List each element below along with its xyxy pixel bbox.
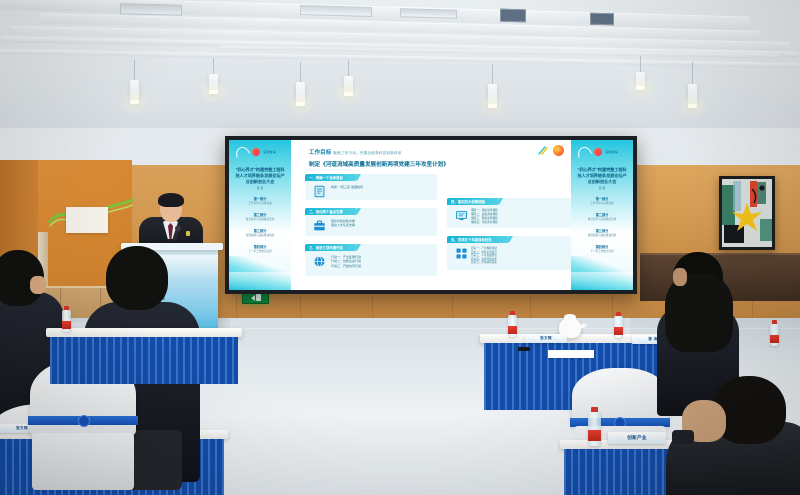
- ceiling-light: [209, 74, 218, 94]
- ceiling-light: [636, 72, 645, 90]
- monitor-icon: [455, 209, 468, 222]
- slide-right-title: “四心养才”构建完整工程科技人才培养链条发展论坛产业创新创业大会: [576, 167, 628, 185]
- attendee-right-2: [666, 376, 800, 495]
- attendee-hair: [665, 274, 733, 352]
- ceiling-vent: [400, 8, 457, 18]
- circle-logo-icon: [553, 145, 564, 156]
- brand-mark-icon: [252, 148, 260, 156]
- brand-mark-icon: [594, 148, 602, 156]
- slide-right-subtitle: 目 录: [579, 186, 625, 190]
- slide-logo-text: 深圳前海: [605, 150, 618, 154]
- bottle-label: [614, 327, 623, 334]
- paper-document: [548, 350, 594, 358]
- bottle-label: [62, 321, 71, 328]
- wall-plaque: [66, 207, 108, 233]
- water-bottle: [770, 324, 779, 346]
- slide-block-text: 行动一：产业集群行动 行动二：创新生态行动 行动三：开放协同行动: [331, 255, 433, 268]
- ceiling-panel: [590, 13, 614, 26]
- attendee-face: [673, 268, 687, 286]
- toc-item: 第一部分 工作背景与总体思路: [576, 196, 628, 206]
- slide-corner-logos: [537, 145, 564, 156]
- ceiling-vent: [300, 5, 372, 17]
- bottle-label: [508, 326, 517, 333]
- slide-logo: 深圳前海: [235, 147, 276, 156]
- document-icon: [313, 185, 326, 198]
- attendee-face: [30, 276, 46, 294]
- light-rod: [492, 64, 493, 86]
- slide-left-toc: 第一部分 工作背景与总体思路 第二部分 重点任务与实施路径安排 第三部分 保障措…: [234, 196, 286, 260]
- slide-block: 五、完成五个年度目标任务 目标一：产业规模突破 目标二：创新平台提升 目标三：人…: [447, 236, 571, 270]
- water-bottle: [508, 315, 517, 337]
- name-card: 张文辉: [525, 334, 567, 343]
- presenter-hair: [158, 193, 184, 207]
- slide-block-text: 目标一：产业规模突破 目标二：创新平台提升 目标三：人才总量增长 目标四：营商环…: [471, 247, 567, 265]
- light-rod: [300, 62, 301, 84]
- ceiling-light: [296, 82, 305, 106]
- slide-left-panel: 深圳前海 “四心养才”构建完整工程科技人才培养链条发展论坛产业创新创业大会 目 …: [229, 140, 291, 290]
- smartphone: [518, 347, 530, 351]
- ceiling-light: [688, 84, 697, 108]
- slide-logo: 深圳前海: [577, 147, 618, 156]
- bottle-cap: [64, 306, 69, 310]
- toc-item: 第三部分 保障措施与组织推进机制: [576, 228, 628, 238]
- slide-block-header: 五、完成五个年度目标任务: [447, 236, 509, 243]
- bottle-label: [588, 430, 601, 442]
- slide-block: 三、推进三项关键行动 行动一：产业集群行动 行动二：创新生态行动 行动三：开放协…: [305, 244, 437, 276]
- swoosh-icon: [234, 145, 250, 158]
- attendee-table-midleft: [46, 328, 242, 384]
- slide-block-header: 三、推进三项关键行动: [305, 244, 357, 251]
- bottle-cap: [772, 320, 777, 324]
- attendee-head: [106, 246, 168, 310]
- teapot-lid: [564, 314, 575, 320]
- swoosh-icon: [576, 145, 592, 158]
- slide-block-header: 一、明确一个总体目标: [305, 174, 357, 181]
- ceiling-light: [130, 80, 139, 104]
- slide-left-title: “四心养才”构建完整工程科技人才培养链条发展论坛产业创新创业大会: [234, 167, 286, 185]
- water-bottle: [614, 316, 623, 338]
- toc-item: 第二部分 重点任务与实施路径安排: [576, 212, 628, 222]
- slide-block-header: 四、落实四大保障措施: [447, 198, 499, 205]
- toc-item: 第二部分 重点任务与实施路径安排: [234, 212, 286, 222]
- toc-item: 第一部分 工作背景与总体思路: [234, 196, 286, 206]
- slide-main-content: 工作目标聚焦三年行动，完善全链条科技创新体系 制定《河道流域高质量发展创新两项党…: [291, 140, 571, 290]
- slide-block: 二、强化两个重点支撑 强化科技创新支撑 强化人才队伍支撑: [305, 208, 437, 236]
- slide-wave-decor: [229, 272, 291, 290]
- slide-block: 四、落实四大保障措施 保障一：组织领导保障 保障二：政策资金保障 保障三：要素资…: [447, 198, 571, 228]
- exit-arrow-icon: [251, 295, 255, 301]
- ceiling: [0, 0, 800, 132]
- table-skirt: [50, 337, 238, 384]
- slide-block-header: 二、强化两个重点支撑: [305, 208, 357, 215]
- table-top: [46, 328, 242, 337]
- toc-item: 第四部分 下一步工作重点安排: [576, 244, 628, 254]
- bottle-cap: [591, 407, 598, 412]
- framed-painting: [719, 176, 775, 250]
- ribbon-logo-icon: [537, 145, 548, 156]
- chair-seat: [32, 433, 134, 490]
- ceiling-vent: [120, 3, 182, 16]
- toc-item: 第三部分 保障措施与组织推进机制: [234, 228, 286, 238]
- ceiling-light: [488, 84, 497, 108]
- toc-item: 第四部分 下一步工作重点安排: [234, 244, 286, 254]
- slide-main-title: 制定《河道流域高质量发展创新两项党建三年攻坚计划》: [309, 160, 557, 168]
- briefcase-icon: [313, 219, 326, 232]
- bottle-cap: [616, 312, 621, 316]
- ceiling-panel: [500, 9, 526, 23]
- presentation-screen[interactable]: 深圳前海 “四心养才”构建完整工程科技人才培养链条发展论坛产业创新创业大会 目 …: [225, 136, 637, 294]
- water-bottle: [62, 310, 71, 332]
- slide-wave-decor: [571, 272, 633, 290]
- chair-sash-knot: [78, 415, 90, 427]
- water-bottle: [588, 412, 601, 446]
- slide-left-subtitle: 目 录: [237, 186, 283, 190]
- lapel-badge: [186, 231, 190, 236]
- slide-block-text: 强化科技创新支撑 强化人才队伍支撑: [331, 219, 433, 228]
- slide-block-text: 构建“一核三区”发展格局: [331, 185, 433, 189]
- running-person-icon: [256, 294, 261, 301]
- light-rod: [692, 62, 693, 86]
- wrist-watch: [672, 430, 694, 444]
- light-rod: [134, 60, 135, 82]
- slide-heading-label: 工作目标聚焦三年行动，完善全链条科技创新体系: [309, 148, 402, 156]
- grid-icon: [455, 247, 468, 260]
- slide-right-toc: 第一部分 工作背景与总体思路 第二部分 重点任务与实施路径安排 第三部分 保障措…: [576, 196, 628, 260]
- slide-right-panel: 深圳前海 “四心养才”构建完整工程科技人才培养链条发展论坛产业创新创业大会 目 …: [571, 140, 633, 290]
- slide-logo-text: 深圳前海: [263, 150, 276, 154]
- bottle-cap: [510, 311, 515, 315]
- bottle-label: [770, 335, 779, 342]
- ceiling-light: [344, 76, 353, 96]
- slide-block-text: 保障一：组织领导保障 保障二：政策资金保障 保障三：要素资源保障 保障四：考核评…: [471, 209, 567, 225]
- slide-block: 一、明确一个总体目标 构建“一核三区”发展格局: [305, 174, 437, 200]
- name-card: 创新产业: [608, 432, 666, 444]
- conference-room-photo: 深圳前海 “四心养才”构建完整工程科技人才培养链条发展论坛产业创新创业大会 目 …: [0, 0, 800, 495]
- globe-icon: [313, 255, 326, 268]
